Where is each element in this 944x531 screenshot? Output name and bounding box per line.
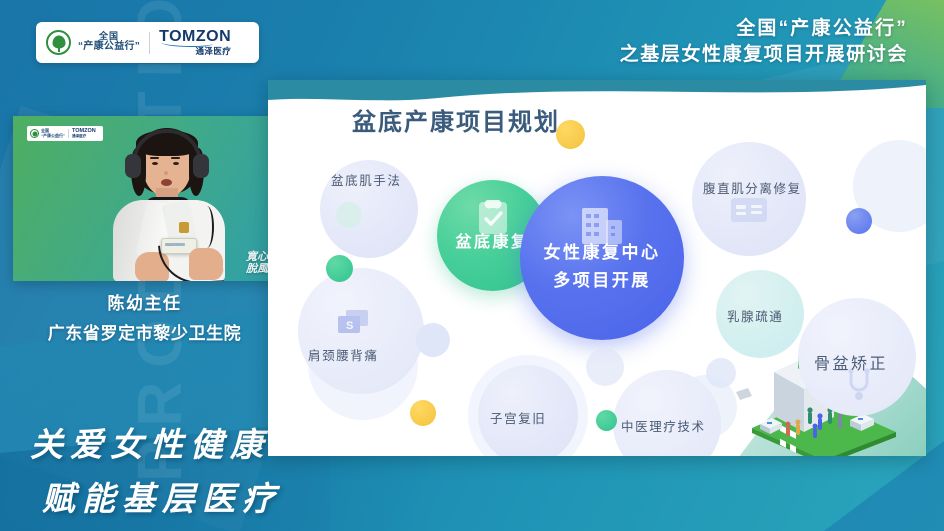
headset-earcup-left	[125, 154, 141, 178]
presenter-organization: 广东省罗定市黎少卫生院	[13, 319, 276, 344]
topic-label-1: 肩颈腰背痛	[308, 345, 379, 364]
presenter-video-feed[interactable]: 全国 “产康公益行” TOMZON 通泽医疗	[13, 116, 276, 281]
topic-label-0: 盆底肌手法	[331, 170, 402, 189]
presentation-slide[interactable]: 盆底产康项目规划	[268, 80, 926, 456]
logo-chinese-text: 全国 “产康公益行”	[78, 32, 140, 53]
nose	[164, 171, 168, 175]
video-watermark: 寬心脫風	[246, 251, 268, 275]
topic-label-2: 子宫复旧	[490, 408, 546, 427]
logo-divider	[149, 32, 150, 54]
slide-title: 盆底产康项目规划	[352, 102, 560, 137]
brand-name: TOMZON	[159, 29, 231, 45]
logo-brand-text: TOMZON 通泽医疗	[159, 29, 231, 56]
accent-dot-green	[596, 410, 617, 431]
accent-dot-yellow	[410, 400, 436, 426]
accent-dot-pale	[706, 358, 736, 388]
presenter-info: 陈幼主任 广东省罗定市黎少卫生院	[13, 289, 276, 344]
brand-name-cn: 通泽医疗	[159, 47, 231, 56]
topic-label-3: 中医理疗技术	[621, 416, 706, 435]
event-title-line2: 之基层女性康复项目开展研讨会	[620, 42, 908, 68]
slogan-line2: 赋能基层医疗	[42, 472, 282, 520]
presenter-figure	[105, 126, 233, 281]
accent-dot-pale	[416, 323, 450, 357]
name-badge	[179, 222, 189, 233]
presenter-name: 陈幼主任	[13, 289, 276, 314]
accent-dot-green	[326, 255, 353, 282]
mouth	[161, 179, 172, 186]
device-cord-upper	[200, 206, 214, 248]
video-logo-cn-line2: “产康公益行”	[41, 134, 65, 139]
green-circle-emblem-icon	[30, 129, 39, 138]
topic-label-4: 腹直肌分离修复	[703, 178, 802, 197]
main-node-label-1-line1: 女性康复中心	[520, 238, 684, 263]
main-node-label-1-line2: 多项目开展	[520, 266, 684, 291]
video-logo-brand: TOMZON 通泽医疗	[72, 128, 96, 139]
campaign-slogan: 关爱女性健康 赋能基层医疗	[30, 418, 282, 520]
topic-label-6: 骨盆矫正	[814, 350, 888, 374]
topic-label-5: 乳腺疏通	[727, 306, 783, 325]
accent-dot-blue	[846, 208, 872, 234]
accent-dot-pale-mint	[336, 202, 362, 228]
broadcast-screen: PRODUCTION 全国 “产康公益行” TOMZON 通泽医疗 全国“产康公…	[0, 0, 944, 531]
event-title: 全国“产康公益行” 之基层女性康复项目开展研讨会	[620, 16, 908, 68]
video-logo-divider	[68, 129, 69, 138]
video-logo-cn: 全国 “产康公益行”	[39, 129, 65, 139]
card-stack-icon: S	[336, 308, 370, 338]
headset-earcup-right	[193, 154, 209, 178]
hand-right	[189, 248, 223, 280]
id-card-icon	[730, 196, 768, 224]
accent-dot-yellow	[556, 120, 585, 149]
slogan-line1: 关爱女性健康	[30, 418, 282, 466]
svg-text:S: S	[346, 320, 353, 332]
logo-cn-line2: “产康公益行”	[78, 42, 140, 53]
brand-logo-bar: 全国 “产康公益行” TOMZON 通泽医疗	[36, 22, 259, 63]
event-title-line1: 全国“产康公益行”	[620, 16, 908, 42]
green-circle-emblem-icon	[46, 30, 71, 55]
accent-dot-pale	[586, 348, 624, 386]
video-overlay-logo: 全国 “产康公益行” TOMZON 通泽医疗	[27, 126, 103, 141]
video-logo-brand-cn: 通泽医疗	[72, 134, 96, 139]
